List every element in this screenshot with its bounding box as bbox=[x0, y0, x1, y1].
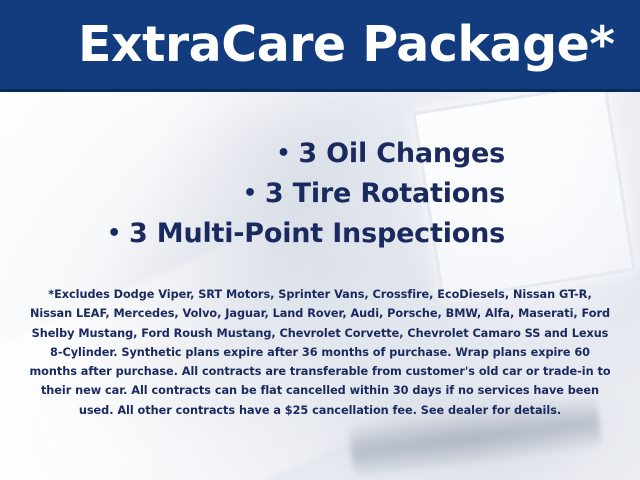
bullet-dot-icon: • bbox=[243, 174, 257, 214]
page-title: ExtraCare Package* bbox=[78, 16, 615, 74]
list-item: •3 Oil Changes bbox=[0, 134, 505, 174]
disclaimer-text: *Excludes Dodge Viper, SRT Motors, Sprin… bbox=[26, 285, 614, 420]
list-item: •3 Tire Rotations bbox=[0, 174, 505, 214]
benefit-label: 3 Oil Changes bbox=[298, 138, 505, 169]
extracare-package-flyer: ExtraCare Package* •3 Oil Changes •3 Tir… bbox=[0, 0, 640, 480]
benefit-label: 3 Tire Rotations bbox=[265, 178, 505, 209]
list-item: •3 Multi-Point Inspections bbox=[0, 214, 505, 254]
bullet-dot-icon: • bbox=[276, 134, 290, 174]
benefit-label: 3 Multi-Point Inspections bbox=[129, 218, 505, 249]
header-banner: ExtraCare Package* bbox=[0, 0, 640, 92]
bullet-dot-icon: • bbox=[107, 214, 121, 254]
benefits-list: •3 Oil Changes •3 Tire Rotations •3 Mult… bbox=[0, 134, 505, 254]
